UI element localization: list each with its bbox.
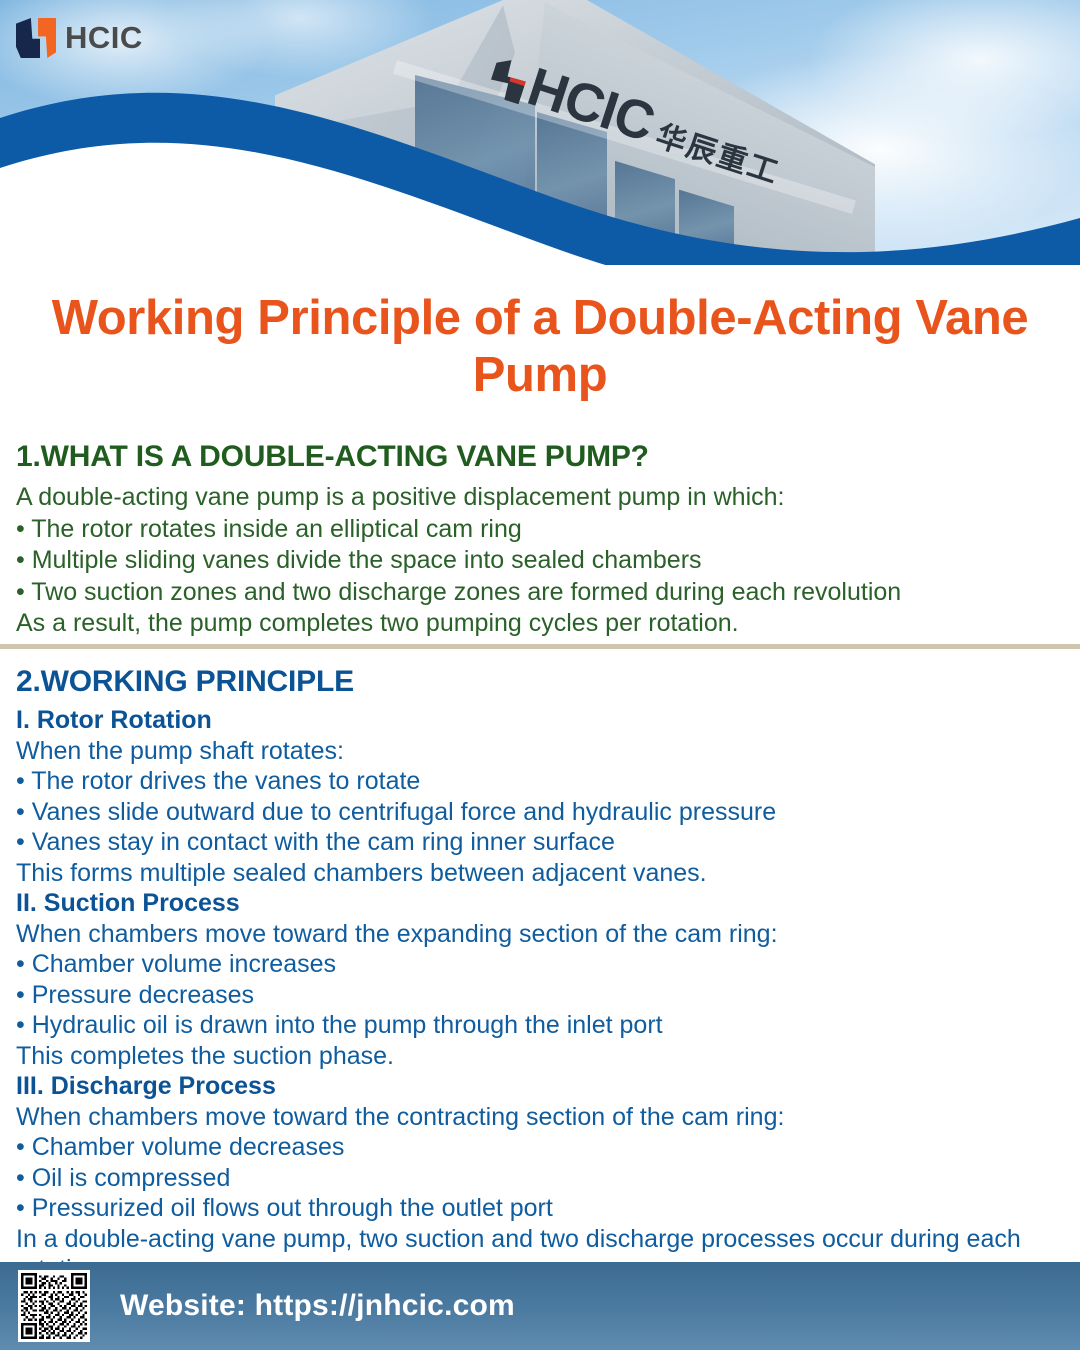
qr-code-icon[interactable]	[18, 1270, 90, 1342]
hcic-logo: HCIC	[16, 18, 143, 58]
block-discharge-process: III. Discharge Process When chambers mov…	[16, 1071, 1071, 1285]
block-suction-process: II. Suction Process When chambers move t…	[16, 888, 1071, 1071]
block-subheading: II. Suction Process	[16, 888, 1071, 919]
hcic-logo-mark-icon	[16, 18, 56, 58]
block-body: When the pump shaft rotates: • The rotor…	[16, 736, 1071, 889]
hcic-building-photo: HCIC华辰重工	[275, 0, 875, 265]
section-working-principle: 2.WORKING PRINCIPLE I. Rotor Rotation Wh…	[16, 665, 1071, 1285]
hero-banner: HCIC华辰重工	[0, 0, 1080, 265]
block-subheading: I. Rotor Rotation	[16, 705, 1071, 736]
section1-body: A double-acting vane pump is a positive …	[16, 482, 1071, 640]
qr-code-svg	[21, 1273, 87, 1339]
building-window	[615, 161, 675, 265]
section1-heading: 1.WHAT IS A DOUBLE-ACTING VANE PUMP?	[16, 440, 1071, 474]
section-divider	[0, 644, 1080, 649]
block-body: When chambers move toward the contractin…	[16, 1102, 1071, 1285]
section2-heading: 2.WORKING PRINCIPLE	[16, 665, 1071, 699]
block-subheading: III. Discharge Process	[16, 1071, 1071, 1102]
page-title: Working Principle of a Double-Acting Van…	[40, 290, 1040, 404]
logo-navy-shape	[16, 18, 40, 58]
block-rotor-rotation: I. Rotor Rotation When the pump shaft ro…	[16, 705, 1071, 888]
footer-bar: Website: https://jnhcic.com	[0, 1262, 1080, 1350]
section-what-is-a-double-acting-vane-pump: 1.WHAT IS A DOUBLE-ACTING VANE PUMP? A d…	[16, 440, 1071, 640]
logo-wordmark: HCIC	[65, 20, 143, 56]
block-body: When chambers move toward the expanding …	[16, 919, 1071, 1072]
website-label[interactable]: Website: https://jnhcic.com	[120, 1289, 515, 1323]
